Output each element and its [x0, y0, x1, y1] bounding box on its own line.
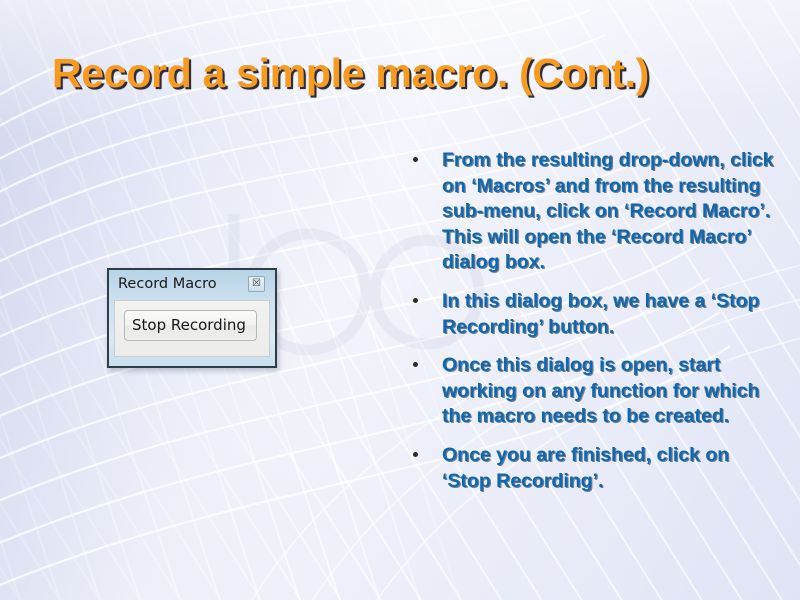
bullet-dot-icon — [413, 362, 418, 367]
bullet-dot-icon — [413, 298, 418, 303]
list-item: Once this dialog is open, start working … — [406, 353, 774, 430]
record-macro-dialog: Record Macro ☒ Stop Recording — [107, 268, 277, 368]
page-title: Record a simple macro. (Cont.) — [52, 50, 772, 97]
list-item: From the resulting drop-down, click on ‘… — [406, 148, 774, 276]
bullet-dot-icon — [413, 157, 418, 162]
dialog-title: Record Macro — [118, 276, 217, 292]
list-item-text: In this dialog box, we have a ‘Stop Reco… — [442, 290, 759, 338]
bullet-list: From the resulting drop-down, click on ‘… — [406, 148, 774, 494]
bullet-dot-icon — [413, 452, 418, 457]
dialog-body: Stop Recording — [114, 300, 270, 357]
dialog-titlebar: Record Macro ☒ — [114, 274, 270, 300]
slide-canvas: Record a simple macro. (Cont.) From the … — [0, 0, 800, 600]
stop-recording-button[interactable]: Stop Recording — [124, 310, 257, 341]
list-item-text: Once this dialog is open, start working … — [442, 354, 759, 427]
list-item-text: Once you are finished, click on ‘Stop Re… — [442, 444, 729, 492]
list-item: Once you are finished, click on ‘Stop Re… — [406, 443, 774, 494]
list-item: In this dialog box, we have a ‘Stop Reco… — [406, 289, 774, 340]
close-icon[interactable]: ☒ — [248, 276, 265, 292]
list-item-text: From the resulting drop-down, click on ‘… — [442, 149, 774, 273]
